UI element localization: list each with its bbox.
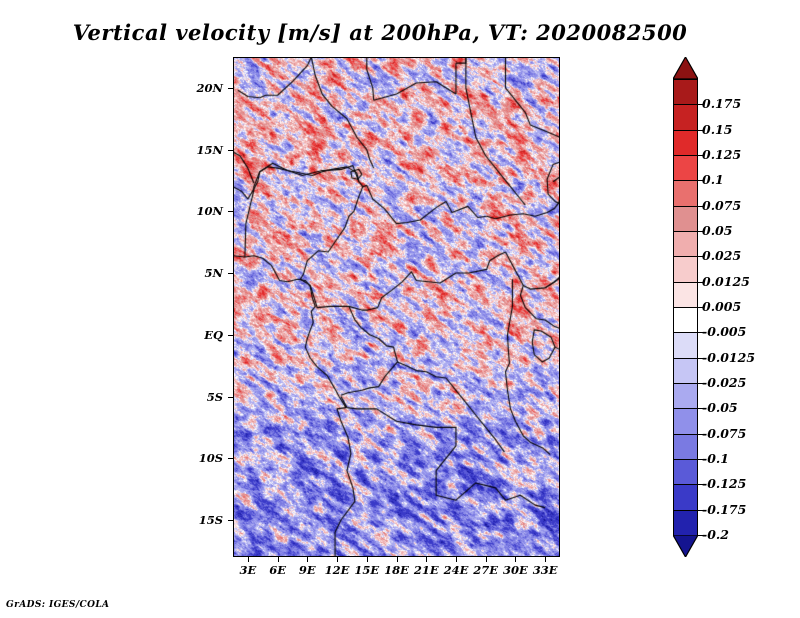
colorbar-segment[interactable]: [673, 484, 698, 510]
colorbar-label: 0.025: [702, 248, 741, 263]
y-axis-tick: [228, 88, 233, 89]
colorbar-segment[interactable]: [673, 206, 698, 232]
colorbar[interactable]: [673, 57, 698, 557]
colorbar-segment[interactable]: [673, 256, 698, 282]
x-axis-tick: [456, 557, 457, 562]
colorbar-max-arrow: [673, 57, 698, 79]
y-axis-tick: [228, 458, 233, 459]
colorbar-tick: [698, 130, 703, 131]
colorbar-tick: [698, 256, 703, 257]
y-axis-tick: [228, 335, 233, 336]
x-axis-tick: [278, 557, 279, 562]
colorbar-label: -0.05: [702, 400, 738, 415]
colorbar-segment[interactable]: [673, 510, 698, 536]
colorbar-segment[interactable]: [673, 282, 698, 308]
colorbar-tick: [698, 155, 703, 156]
colorbar-label: 0.1: [702, 172, 724, 187]
y-axis-label: 15S: [179, 513, 223, 527]
colorbar-label: 0.175: [702, 96, 741, 111]
colorbar-segment[interactable]: [673, 307, 698, 333]
colorbar-segment[interactable]: [673, 459, 698, 485]
colorbar-tick: [698, 180, 703, 181]
y-axis-label: 15N: [179, 143, 223, 157]
y-axis-label: EQ: [179, 328, 223, 342]
x-axis-tick: [397, 557, 398, 562]
colorbar-tick: [698, 408, 703, 409]
colorbar-tick: [698, 459, 703, 460]
colorbar-segment[interactable]: [673, 383, 698, 409]
colorbar-min-arrow: [673, 535, 698, 557]
colorbar-segment[interactable]: [673, 130, 698, 156]
colorbar-label: 0.075: [702, 198, 741, 213]
y-axis-label: 20N: [179, 81, 223, 95]
y-axis-tick: [228, 150, 233, 151]
colorbar-segment[interactable]: [673, 155, 698, 181]
page-title: Vertical velocity [m/s] at 200hPa, VT: 2…: [0, 20, 760, 45]
y-axis-tick: [228, 211, 233, 212]
colorbar-label: -0.175: [702, 502, 746, 517]
colorbar-tick: [698, 231, 703, 232]
colorbar-tick: [698, 484, 703, 485]
x-axis-tick: [515, 557, 516, 562]
colorbar-segment[interactable]: [673, 79, 698, 105]
x-axis-tick: [486, 557, 487, 562]
y-axis-tick: [228, 520, 233, 521]
y-axis-tick: [228, 397, 233, 398]
colorbar-label: -0.1: [702, 451, 729, 466]
colorbar-label: -0.125: [702, 476, 746, 491]
map-plot-area[interactable]: [233, 57, 560, 557]
grads-attribution: GrADS: IGES/COLA: [6, 600, 109, 610]
x-axis-tick: [367, 557, 368, 562]
colorbar-tick: [698, 282, 703, 283]
colorbar-label: 0.0125: [702, 274, 750, 289]
colorbar-label: 0.005: [702, 299, 741, 314]
colorbar-segment[interactable]: [673, 180, 698, 206]
colorbar-tick: [698, 104, 703, 105]
y-axis-label: 10N: [179, 204, 223, 218]
colorbar-tick: [698, 434, 703, 435]
colorbar-segment[interactable]: [673, 231, 698, 257]
colorbar-segment[interactable]: [673, 434, 698, 460]
colorbar-tick: [698, 206, 703, 207]
colorbar-segment[interactable]: [673, 104, 698, 130]
x-axis-tick: [545, 557, 546, 562]
colorbar-tick: [698, 535, 703, 536]
colorbar-label: 0.05: [702, 223, 732, 238]
y-axis-label: 10S: [179, 451, 223, 465]
x-axis-tick: [426, 557, 427, 562]
colorbar-segment[interactable]: [673, 358, 698, 384]
x-axis-tick: [337, 557, 338, 562]
colorbar-tick: [698, 383, 703, 384]
colorbar-tick: [698, 332, 703, 333]
y-axis-label: 5N: [179, 266, 223, 280]
vertical-velocity-heatmap: [233, 57, 560, 557]
colorbar-label: -0.0125: [702, 350, 755, 365]
x-axis-tick: [248, 557, 249, 562]
colorbar-label: -0.2: [702, 527, 729, 542]
colorbar-segment[interactable]: [673, 332, 698, 358]
colorbar-label: 0.125: [702, 147, 741, 162]
colorbar-label: 0.15: [702, 122, 732, 137]
colorbar-label: -0.075: [702, 426, 746, 441]
y-axis-tick: [228, 273, 233, 274]
colorbar-label: -0.025: [702, 375, 746, 390]
colorbar-segment[interactable]: [673, 408, 698, 434]
colorbar-tick: [698, 307, 703, 308]
x-axis-label: 33E: [525, 563, 565, 577]
colorbar-label: -0.005: [702, 324, 746, 339]
colorbar-tick: [698, 358, 703, 359]
y-axis-label: 5S: [179, 390, 223, 404]
x-axis-tick: [307, 557, 308, 562]
colorbar-tick: [698, 510, 703, 511]
